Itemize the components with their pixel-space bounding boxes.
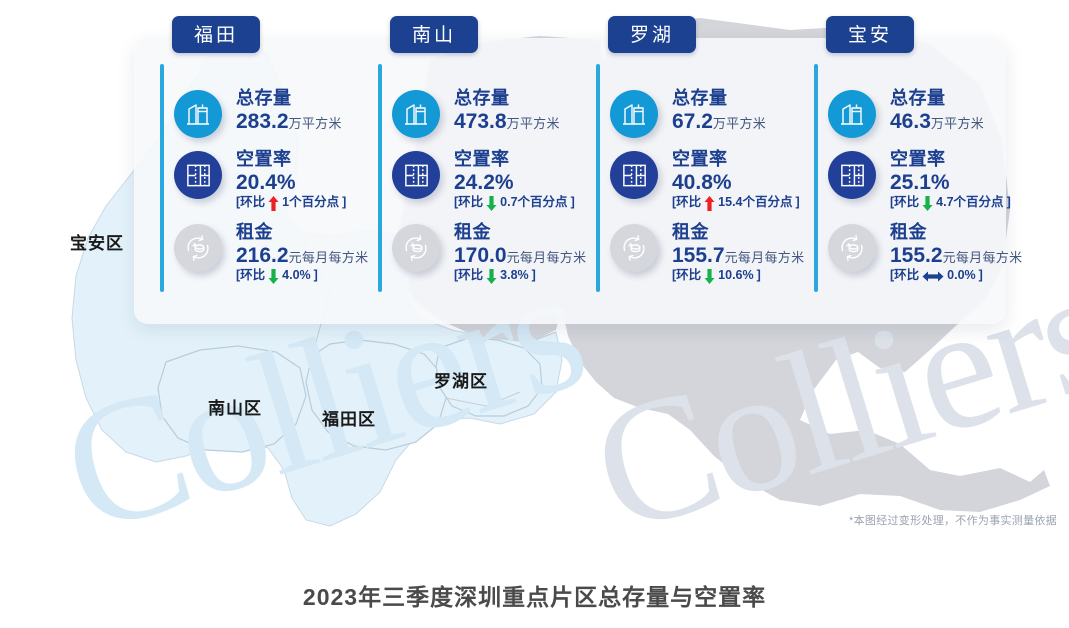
metric-value: 67.2万平方米 bbox=[672, 109, 766, 134]
metric-title: 租金 bbox=[236, 222, 368, 243]
rent-cycle-icon bbox=[828, 224, 876, 272]
delta-suffix: ] bbox=[314, 268, 318, 284]
delta-suffix: ] bbox=[532, 268, 536, 284]
rent-cycle-icon bbox=[610, 224, 658, 272]
delta-suffix: ] bbox=[757, 268, 761, 284]
page-title: 2023年三季度深圳重点片区总存量与空置率 bbox=[0, 578, 1069, 612]
delta-prefix: [环比 bbox=[890, 268, 919, 284]
metric-body: 空置率40.8%[环比 15.4个百分点] bbox=[672, 149, 800, 211]
delta-text: 0.7个百分点 bbox=[500, 195, 567, 211]
map-label-futian: 福田区 bbox=[322, 405, 376, 430]
floorplan-icon bbox=[610, 151, 658, 199]
delta-suffix: ] bbox=[979, 268, 983, 284]
metric-body: 租金155.7元每月每方米[环比 10.6%] bbox=[672, 222, 804, 284]
delta-arrow-down bbox=[486, 269, 497, 284]
floorplan-icon bbox=[392, 151, 440, 199]
district-column-罗湖: 罗湖 总存量67.2万平方米 空置率40.8%[环比 15.4个百分点] 租金1… bbox=[570, 38, 788, 324]
stats-panel: 福田 总存量283.2万平方米 空置率20.4%[环比 1个百分点] 租金216… bbox=[134, 38, 1006, 324]
delta-arrow-down bbox=[268, 269, 279, 284]
metric-value: 155.2元每月每方米 bbox=[890, 243, 1022, 268]
metric-value: 25.1% bbox=[890, 170, 1011, 195]
map-label-baoan: 宝安区 bbox=[70, 229, 124, 254]
arrow-down-icon bbox=[704, 269, 715, 284]
metric-unit: 万平方米 bbox=[507, 116, 560, 131]
delta-text: 15.4个百分点 bbox=[718, 195, 792, 211]
delta-text: 0.0% bbox=[947, 268, 976, 284]
metric-delta: [环比 15.4个百分点] bbox=[672, 195, 800, 211]
metric-unit: 万平方米 bbox=[931, 116, 984, 131]
metric-title: 总存量 bbox=[890, 88, 984, 109]
delta-prefix: [环比 bbox=[890, 195, 919, 211]
column-accent-rule bbox=[814, 64, 818, 292]
district-column-南山: 南山 总存量473.8万平方米 空置率24.2%[环比 0.7个百分点] 租金1… bbox=[352, 38, 570, 324]
delta-suffix: ] bbox=[342, 195, 346, 211]
floorplan-icon bbox=[828, 151, 876, 199]
arrow-flat-icon bbox=[922, 271, 944, 282]
column-accent-rule bbox=[596, 64, 600, 292]
arrow-down-icon bbox=[922, 196, 933, 211]
delta-arrow-down bbox=[486, 196, 497, 211]
metric-title: 租金 bbox=[454, 222, 586, 243]
buildings-icon bbox=[610, 90, 658, 138]
delta-prefix: [环比 bbox=[672, 268, 701, 284]
district-column-福田: 福田 总存量283.2万平方米 空置率20.4%[环比 1个百分点] 租金216… bbox=[134, 38, 352, 324]
metric-body: 总存量283.2万平方米 bbox=[236, 88, 342, 134]
delta-arrow-up bbox=[268, 196, 279, 211]
metric-title: 空置率 bbox=[890, 149, 1011, 170]
metric-body: 租金155.2元每月每方米[环比 0.0%] bbox=[890, 222, 1022, 284]
metric-number: 155.2 bbox=[890, 244, 943, 267]
metric-unit: 元每月每方米 bbox=[943, 250, 1023, 265]
metric-value: 283.2万平方米 bbox=[236, 109, 342, 134]
delta-suffix: ] bbox=[1007, 195, 1011, 211]
map-footnote: *本图经过变形处理，不作为事实测量依据 bbox=[849, 512, 1057, 528]
metric-unit: 万平方米 bbox=[289, 116, 342, 131]
arrow-down-icon bbox=[486, 196, 497, 211]
metric-value: 46.3万平方米 bbox=[890, 109, 984, 134]
delta-prefix: [环比 bbox=[672, 195, 701, 211]
district-pill-罗湖[interactable]: 罗湖 bbox=[608, 16, 696, 53]
metric-number: 283.2 bbox=[236, 110, 289, 133]
metric-delta: [环比 10.6%] bbox=[672, 268, 804, 284]
delta-arrow-up bbox=[704, 196, 715, 211]
arrow-down-icon bbox=[268, 269, 279, 284]
metric-value: 170.0元每月每方米 bbox=[454, 243, 586, 268]
metric-number: 170.0 bbox=[454, 244, 507, 267]
arrow-up-icon bbox=[704, 196, 715, 211]
rent-cycle-icon bbox=[174, 224, 222, 272]
metric-unit: 万平方米 bbox=[713, 116, 766, 131]
metric-delta: [环比 3.8%] bbox=[454, 268, 586, 284]
metric-body: 空置率24.2%[环比 0.7个百分点] bbox=[454, 149, 575, 211]
metric-value: 40.8% bbox=[672, 170, 800, 195]
delta-text: 4.7个百分点 bbox=[936, 195, 1003, 211]
metric-number: 24.2% bbox=[454, 171, 514, 194]
delta-prefix: [环比 bbox=[236, 268, 265, 284]
rent-cycle-icon bbox=[392, 224, 440, 272]
metric-number: 67.2 bbox=[672, 110, 713, 133]
column-accent-rule bbox=[378, 64, 382, 292]
metric-body: 空置率20.4%[环比 1个百分点] bbox=[236, 149, 346, 211]
metric-value: 155.7元每月每方米 bbox=[672, 243, 804, 268]
delta-prefix: [环比 bbox=[236, 195, 265, 211]
delta-prefix: [环比 bbox=[454, 268, 483, 284]
floorplan-icon bbox=[174, 151, 222, 199]
arrow-down-icon bbox=[486, 269, 497, 284]
metric-body: 租金216.2元每月每方米[环比 4.0%] bbox=[236, 222, 368, 284]
metric-list: 总存量46.3万平方米 空置率25.1%[环比 4.7个百分点] 租金155.2… bbox=[828, 88, 1046, 284]
delta-text: 10.6% bbox=[718, 268, 753, 284]
district-column-宝安: 宝安 总存量46.3万平方米 空置率25.1%[环比 4.7个百分点] 租金15… bbox=[788, 38, 1006, 324]
column-accent-rule bbox=[160, 64, 164, 292]
metric-title: 总存量 bbox=[454, 88, 560, 109]
metric-title: 总存量 bbox=[236, 88, 342, 109]
delta-arrow-flat bbox=[922, 271, 944, 282]
metric-number: 46.3 bbox=[890, 110, 931, 133]
metric-title: 空置率 bbox=[672, 149, 800, 170]
metric-delta: [环比 1个百分点] bbox=[236, 195, 346, 211]
metric-delta: [环比 0.0%] bbox=[890, 268, 1022, 284]
delta-text: 3.8% bbox=[500, 268, 529, 284]
delta-text: 1个百分点 bbox=[282, 195, 339, 211]
metric-body: 总存量67.2万平方米 bbox=[672, 88, 766, 134]
metric-body: 空置率25.1%[环比 4.7个百分点] bbox=[890, 149, 1011, 211]
map-label-nanshan: 南山区 bbox=[208, 394, 262, 419]
delta-arrow-down bbox=[922, 196, 933, 211]
map-label-luohu: 罗湖区 bbox=[434, 367, 488, 392]
metric-value: 24.2% bbox=[454, 170, 575, 195]
metric-number: 20.4% bbox=[236, 171, 296, 194]
metric-title: 总存量 bbox=[672, 88, 766, 109]
metric-value: 216.2元每月每方米 bbox=[236, 243, 368, 268]
metric-number: 25.1% bbox=[890, 171, 950, 194]
metric-value: 20.4% bbox=[236, 170, 346, 195]
delta-arrow-down bbox=[704, 269, 715, 284]
delta-prefix: [环比 bbox=[454, 195, 483, 211]
infographic-root: Colliers Colliers 宝安区 南山区 福田区 罗湖区 *本图经过变… bbox=[0, 0, 1069, 628]
metric-number: 155.7 bbox=[672, 244, 725, 267]
metric-value: 473.8万平方米 bbox=[454, 109, 560, 134]
metric-row-租金: 租金155.2元每月每方米[环比 0.0%] bbox=[828, 222, 1046, 284]
arrow-up-icon bbox=[268, 196, 279, 211]
metric-row-总存量: 总存量46.3万平方米 bbox=[828, 88, 1046, 138]
buildings-icon bbox=[392, 90, 440, 138]
metric-number: 473.8 bbox=[454, 110, 507, 133]
metric-delta: [环比 4.7个百分点] bbox=[890, 195, 1011, 211]
delta-text: 4.0% bbox=[282, 268, 311, 284]
metric-title: 租金 bbox=[890, 222, 1022, 243]
metric-number: 216.2 bbox=[236, 244, 289, 267]
buildings-icon bbox=[828, 90, 876, 138]
metric-row-空置率: 空置率25.1%[环比 4.7个百分点] bbox=[828, 149, 1046, 211]
metric-body: 总存量46.3万平方米 bbox=[890, 88, 984, 134]
metric-delta: [环比 0.7个百分点] bbox=[454, 195, 575, 211]
metric-title: 空置率 bbox=[236, 149, 346, 170]
metric-body: 总存量473.8万平方米 bbox=[454, 88, 560, 134]
district-pill-福田[interactable]: 福田 bbox=[172, 16, 260, 53]
metric-body: 租金170.0元每月每方米[环比 3.8%] bbox=[454, 222, 586, 284]
buildings-icon bbox=[174, 90, 222, 138]
metric-title: 租金 bbox=[672, 222, 804, 243]
stats-columns: 福田 总存量283.2万平方米 空置率20.4%[环比 1个百分点] 租金216… bbox=[134, 38, 1006, 324]
district-pill-南山[interactable]: 南山 bbox=[390, 16, 478, 53]
district-pill-宝安[interactable]: 宝安 bbox=[826, 16, 914, 53]
metric-delta: [环比 4.0%] bbox=[236, 268, 368, 284]
metric-title: 空置率 bbox=[454, 149, 575, 170]
metric-number: 40.8% bbox=[672, 171, 732, 194]
